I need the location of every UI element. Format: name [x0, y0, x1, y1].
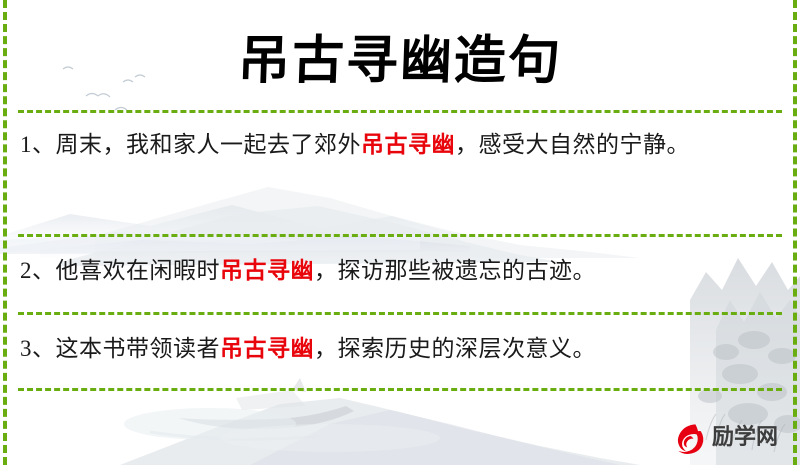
- sentence-item-1: 1、周末，我和家人一起去了郊外吊古寻幽，感受大自然的宁静。: [20, 126, 778, 164]
- sentence-text-after: ，探索历史的深层次意义。: [314, 336, 596, 361]
- keyword-highlight: 吊古寻幽: [361, 131, 455, 158]
- divider-after-sentence-1: [18, 234, 782, 237]
- sentence-index: 2、: [20, 258, 56, 283]
- sentence-text-before: 这本书带领读者: [56, 336, 221, 361]
- keyword-highlight: 吊古寻幽: [220, 335, 314, 362]
- logo-text: 励学网: [712, 427, 778, 449]
- sentence-item-3: 3、这本书带领读者吊古寻幽，探索历史的深层次意义。: [20, 330, 778, 368]
- sentence-text-before: 他喜欢在闲暇时: [56, 258, 221, 283]
- sentence-text-before: 周末，我和家人一起去了郊外: [56, 132, 362, 157]
- sentence-index: 3、: [20, 336, 56, 361]
- sentence-index: 1、: [20, 132, 56, 157]
- red-swirl-flame-icon: [673, 421, 707, 455]
- divider-after-sentence-2: [18, 312, 782, 315]
- worksheet-page: 吊古寻幽造句 1、周末，我和家人一起去了郊外吊古寻幽，感受大自然的宁静。 2、他…: [0, 0, 800, 465]
- keyword-highlight: 吊古寻幽: [220, 257, 314, 284]
- divider-below-title: [18, 110, 782, 113]
- sentence-text-after: ，感受大自然的宁静。: [455, 132, 690, 157]
- sentence-item-2: 2、他喜欢在闲暇时吊古寻幽，探访那些被遗忘的古迹。: [20, 252, 778, 290]
- page-title-area: 吊古寻幽造句: [0, 18, 800, 104]
- site-logo[interactable]: 励学网: [673, 421, 778, 455]
- sentence-text-after: ，探访那些被遗忘的古迹。: [314, 258, 596, 283]
- page-title: 吊古寻幽造句: [237, 35, 563, 87]
- divider-after-sentence-3: [18, 388, 782, 391]
